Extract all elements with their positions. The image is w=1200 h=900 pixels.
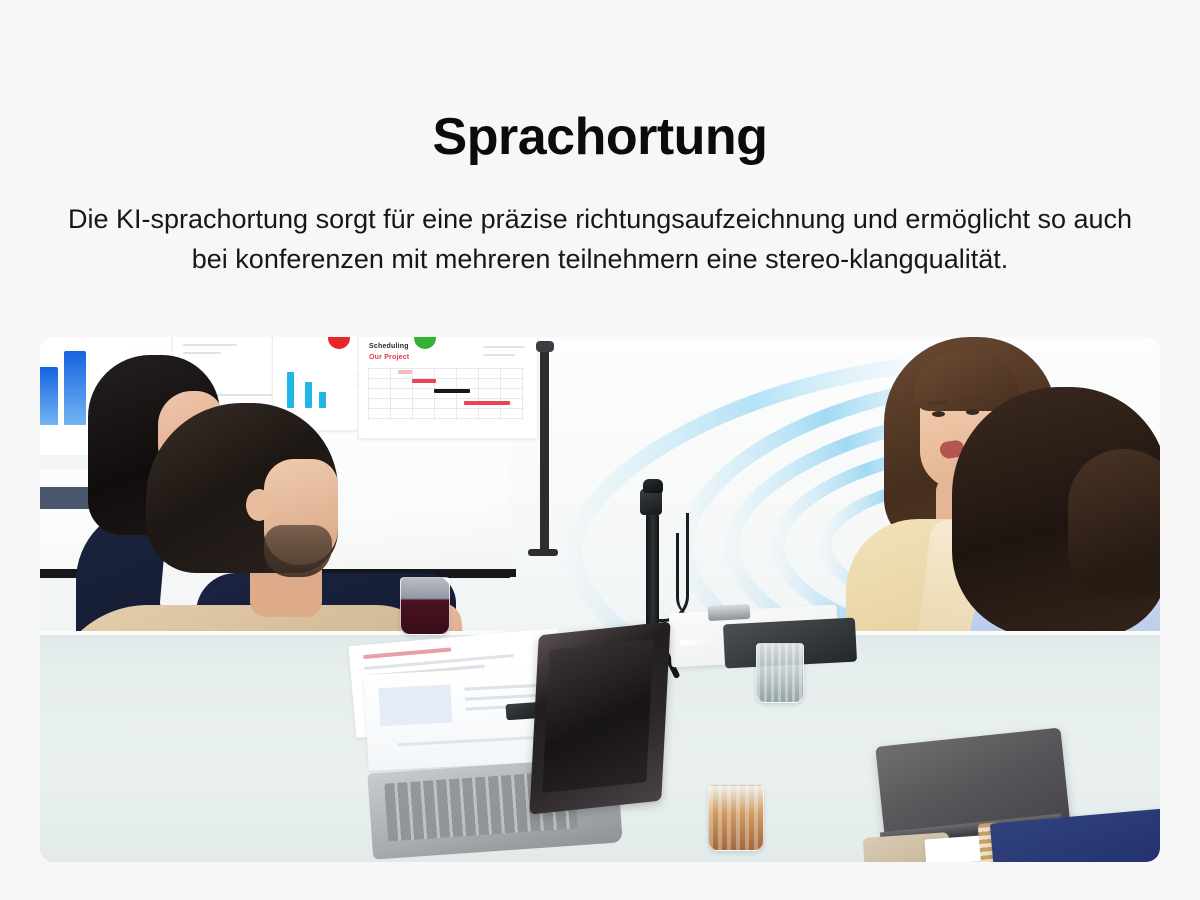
slide-title: Scheduling [369,343,409,350]
gimbal-camera-head [643,479,663,493]
feature-image-card: Scheduling Our Project [40,337,1160,862]
clipboard-clip [708,604,751,621]
page-description: Die KI-sprachortung sorgt für eine präzi… [55,200,1145,279]
amber-ribbed-glass [708,785,764,851]
ear [246,489,272,521]
monitor-bar-2 [64,351,86,425]
pinned-slide-scheduling: Scheduling Our Project [358,337,538,439]
monitor-bar-1 [40,367,58,425]
gantt-bar-0 [398,370,412,374]
eye-right [966,409,979,415]
eye-left [932,411,945,417]
slide-chart-bar-2 [305,382,312,408]
gantt-bar-2 [434,389,470,393]
wine-glass [400,577,450,635]
beard [264,525,332,577]
gantt-bar-3 [464,401,510,405]
gimbal-handle [646,513,659,629]
slide-subtitle: Our Project [369,354,409,361]
whiteboard-post-cap [536,341,554,352]
whiteboard-post-foot [528,549,558,556]
whiteboard-post [540,345,549,553]
laptop-display [542,639,653,793]
slide-gantt-chart [368,368,524,420]
camera-cable-lower [676,533,695,617]
slide-chart-bar-3 [319,392,326,408]
gantt-grid [368,368,524,420]
grey-ribbed-glass [756,643,804,703]
conference-room-photo: Scheduling Our Project [40,337,1160,862]
hair-volume [1068,449,1160,599]
page-title: Sprachortung [0,109,1200,166]
page-root: Sprachortung Die KI-sprachortung sorgt f… [0,0,1200,900]
gantt-bar-1 [412,379,436,383]
slide-chart-bar-1 [287,372,294,408]
